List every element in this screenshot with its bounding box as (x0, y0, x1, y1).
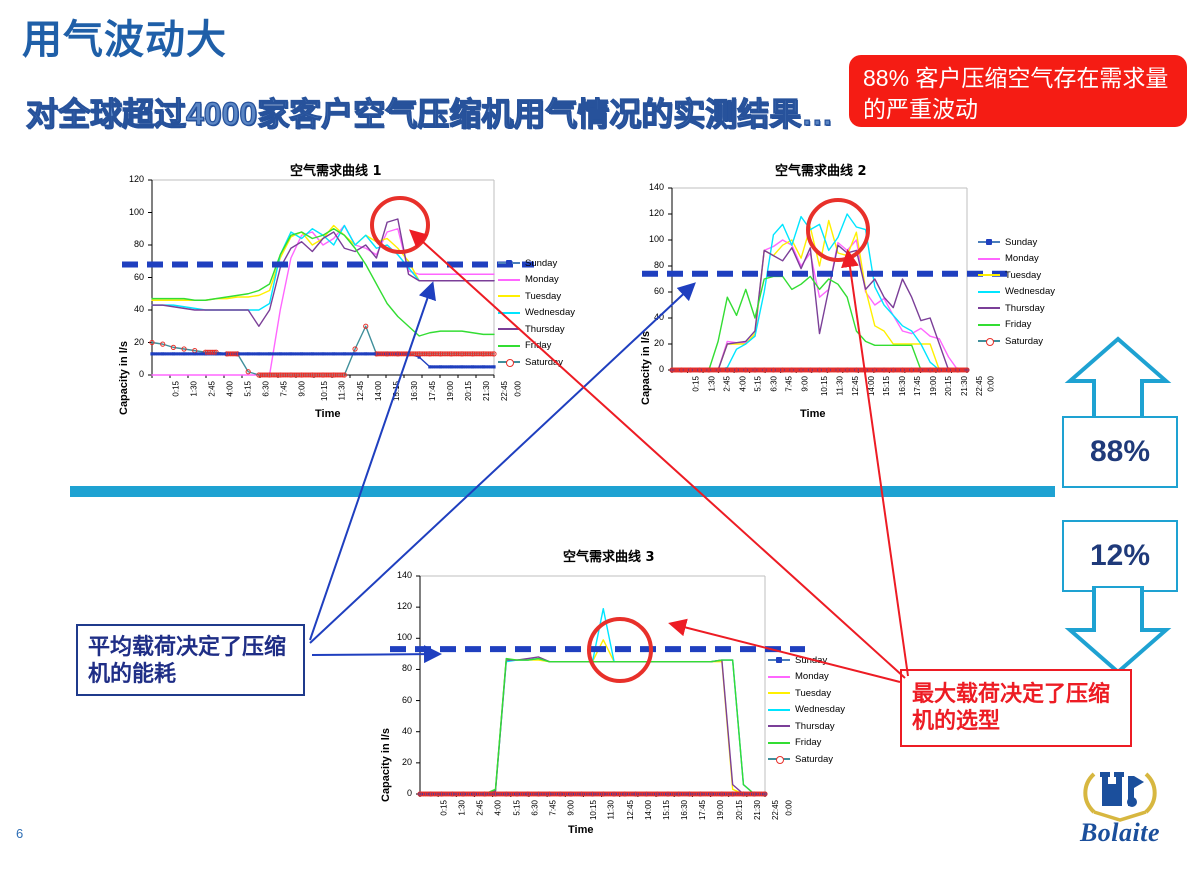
legend-label: Thursday (525, 324, 565, 335)
y-tick-label: 100 (386, 632, 412, 642)
legend-item-wednesday[interactable]: Wednesday (978, 284, 1055, 301)
legend-swatch-icon (498, 291, 520, 301)
legend-label: Thursday (1005, 303, 1045, 314)
chart3-legend: SundayMondayTuesdayWednesdayThursdayFrid… (768, 652, 845, 768)
y-tick-label: 0 (386, 788, 412, 798)
y-tick-label: 140 (638, 182, 664, 192)
chart1-title: 空气需求曲线 1 (290, 160, 382, 179)
y-tick-label: 0 (118, 369, 144, 379)
legend-item-thursday[interactable]: Thursday (768, 718, 845, 735)
logo-wordmark: Bolaite (1054, 818, 1186, 848)
legend-label: Monday (795, 671, 829, 682)
arrow-up-icon (1062, 335, 1174, 425)
legend-label: Wednesday (1005, 286, 1055, 297)
y-tick-label: 80 (638, 260, 664, 270)
legend-item-sunday[interactable]: Sunday (498, 255, 575, 272)
chart2-title: 空气需求曲线 2 (775, 160, 867, 179)
legend-item-thursday[interactable]: Thursday (498, 321, 575, 338)
ratio-arrow-column: 88% 12% (1062, 335, 1174, 660)
y-tick-label: 100 (638, 234, 664, 244)
legend-item-tuesday[interactable]: Tuesday (498, 288, 575, 305)
legend-item-tuesday[interactable]: Tuesday (978, 267, 1055, 284)
legend-swatch-icon (768, 738, 790, 748)
legend-label: Friday (525, 340, 551, 351)
legend-item-friday[interactable]: Friday (498, 338, 575, 355)
callout-bottom-right: 最大载荷决定了压缩机的选型 (900, 669, 1132, 747)
y-tick-label: 40 (638, 312, 664, 322)
legend-label: Wednesday (525, 307, 575, 318)
callout-bottom-left: 平均载荷决定了压缩机的能耗 (76, 624, 305, 696)
y-tick-label: 40 (118, 304, 144, 314)
y-tick-label: 120 (386, 601, 412, 611)
chart3-plot-area: 0204060801001201400:151:302:454:005:156:… (420, 576, 765, 794)
legend-swatch-icon (768, 721, 790, 731)
page-subtitle: 对全球超过4000家客户空气压缩机用气情况的实测结果… (26, 96, 833, 133)
ratio-down-value: 12% (1062, 520, 1178, 592)
legend-item-wednesday[interactable]: Wednesday (768, 702, 845, 719)
legend-item-sunday[interactable]: Sunday (978, 234, 1055, 251)
y-tick-label: 100 (118, 207, 144, 217)
legend-swatch-icon (768, 672, 790, 682)
y-tick-label: 40 (386, 726, 412, 736)
legend-label: Tuesday (525, 291, 561, 302)
chart3-title: 空气需求曲线 3 (563, 546, 655, 565)
chart-air-demand-2: 空气需求曲线 2 Capacity in l/s Time 0204060801… (640, 160, 1100, 420)
y-tick-label: 120 (118, 174, 144, 184)
chart-air-demand-3: 空气需求曲线 3 Capacity in l/s Time 0204060801… (378, 540, 878, 840)
callout-top-right: 88% 客户压缩空气存在需求量的严重波动 (849, 55, 1187, 127)
legend-swatch-icon (498, 258, 520, 268)
chart2-legend: SundayMondayTuesdayWednesdayThursdayFrid… (978, 234, 1055, 350)
legend-swatch-icon (768, 705, 790, 715)
y-tick-label: 20 (638, 338, 664, 348)
y-tick-label: 20 (118, 337, 144, 347)
legend-label: Sunday (1005, 237, 1037, 248)
legend-label: Sunday (795, 655, 827, 666)
legend-label: Monday (1005, 253, 1039, 264)
legend-item-friday[interactable]: Friday (978, 317, 1055, 334)
page-number: 6 (16, 826, 23, 841)
legend-label: Friday (1005, 319, 1031, 330)
y-tick-label: 60 (118, 272, 144, 282)
legend-swatch-icon (978, 303, 1000, 313)
legend-item-wednesday[interactable]: Wednesday (498, 305, 575, 322)
legend-swatch-icon (498, 341, 520, 351)
chart1-legend: SundayMondayTuesdayWednesdayThursdayFrid… (498, 255, 575, 371)
legend-swatch-icon (498, 324, 520, 334)
legend-swatch-icon (498, 308, 520, 318)
logo-bolaite: Bolaite (1054, 762, 1186, 854)
legend-swatch-icon (978, 287, 1000, 297)
legend-item-sunday[interactable]: Sunday (768, 652, 845, 669)
legend-label: Saturday (795, 754, 833, 765)
legend-item-friday[interactable]: Friday (768, 735, 845, 752)
y-tick-label: 120 (638, 208, 664, 218)
page-title: 用气波动大 (22, 18, 227, 62)
y-tick-label: 20 (386, 757, 412, 767)
y-tick-label: 140 (386, 570, 412, 580)
legend-label: Wednesday (795, 704, 845, 715)
slide-canvas: 用气波动大 对全球超过4000家客户空气压缩机用气情况的实测结果… 88% 客户… (0, 0, 1200, 856)
legend-item-monday[interactable]: Monday (498, 272, 575, 289)
legend-swatch-icon (978, 336, 1000, 346)
logo-emblem-icon (1054, 762, 1186, 822)
y-tick-label: 80 (118, 239, 144, 249)
legend-item-saturday[interactable]: Saturday (498, 354, 575, 371)
ratio-up-value: 88% (1062, 416, 1178, 488)
legend-label: Monday (525, 274, 559, 285)
legend-item-thursday[interactable]: Thursday (978, 300, 1055, 317)
y-tick-label: 0 (638, 364, 664, 374)
legend-item-monday[interactable]: Monday (768, 669, 845, 686)
legend-label: Tuesday (795, 688, 831, 699)
legend-item-monday[interactable]: Monday (978, 251, 1055, 268)
arrow-down-icon (1062, 586, 1174, 676)
y-tick-label: 60 (638, 286, 664, 296)
legend-item-saturday[interactable]: Saturday (768, 751, 845, 768)
legend-swatch-icon (768, 754, 790, 764)
legend-label: Tuesday (1005, 270, 1041, 281)
legend-label: Thursday (795, 721, 835, 732)
section-divider (70, 486, 1055, 497)
legend-swatch-icon (978, 237, 1000, 247)
legend-label: Sunday (525, 258, 557, 269)
legend-swatch-icon (978, 254, 1000, 264)
chart2-plot-area: 0204060801001201400:151:302:454:005:156:… (672, 188, 967, 370)
legend-item-tuesday[interactable]: Tuesday (768, 685, 845, 702)
y-tick-label: 60 (386, 695, 412, 705)
legend-swatch-icon (978, 320, 1000, 330)
legend-label: Friday (795, 737, 821, 748)
chart-air-demand-1: 空气需求曲线 1 Capacity in l/s Time 0204060801… (110, 160, 610, 420)
legend-swatch-icon (768, 655, 790, 665)
legend-swatch-icon (498, 275, 520, 285)
legend-label: Saturday (525, 357, 563, 368)
chart1-plot-area: 0204060801001200:151:302:454:005:156:307… (152, 180, 494, 375)
legend-swatch-icon (978, 270, 1000, 280)
legend-swatch-icon (498, 357, 520, 367)
y-tick-label: 80 (386, 663, 412, 673)
legend-swatch-icon (768, 688, 790, 698)
legend-label: Saturday (1005, 336, 1043, 347)
legend-item-saturday[interactable]: Saturday (978, 333, 1055, 350)
